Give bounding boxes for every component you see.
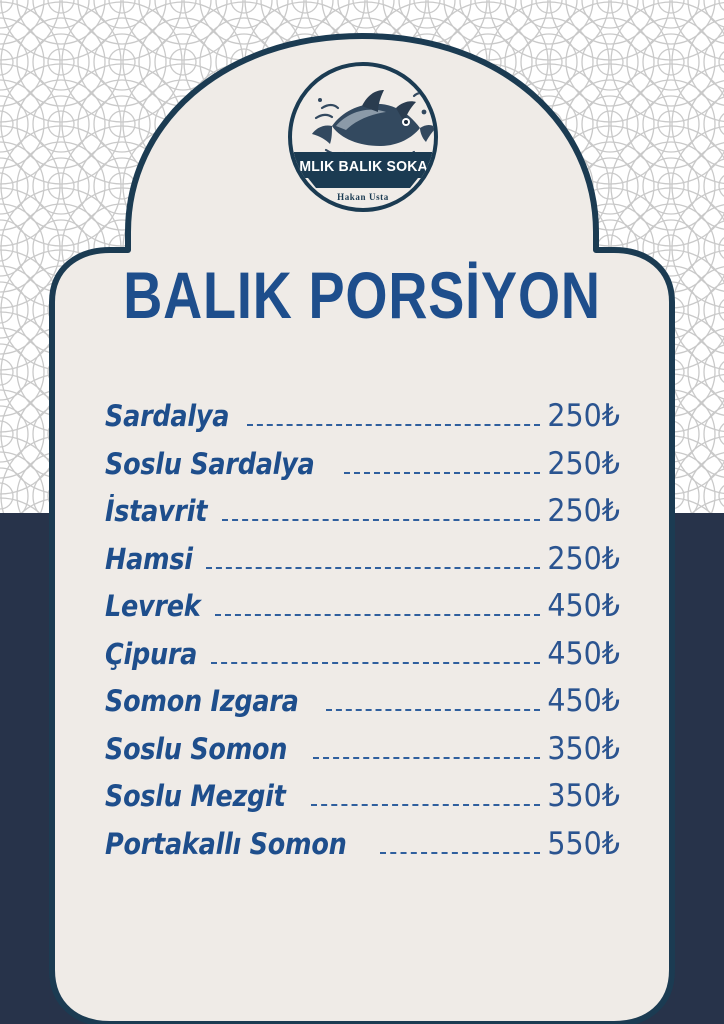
menu-item-name: Hamsi: [105, 542, 193, 576]
leader-dots: [326, 709, 540, 711]
leader-dots: [247, 424, 540, 426]
menu-item-row: Somon Izgara450₺: [105, 683, 620, 731]
leader-dots: [344, 472, 540, 474]
menu-item-row: Soslu Sardalya250₺: [105, 446, 620, 494]
menu-item-row: Sardalya250₺: [105, 398, 620, 446]
fish-icon: [312, 90, 434, 162]
page-title: BALIK PORSİYON: [65, 262, 659, 328]
menu-item-name: Çipura: [105, 637, 197, 671]
menu-item-price: 250₺: [547, 493, 620, 529]
brand-logo: ÇAMLIK BALIK SOKAĞI Hakan Usta: [288, 62, 438, 212]
leader-dots: [222, 519, 540, 521]
menu-list: Sardalya250₺Soslu Sardalya250₺İstavrit25…: [105, 398, 620, 873]
menu-item-name: Soslu Sardalya: [105, 447, 314, 481]
leader-dots: [313, 757, 540, 759]
menu-item-row: Hamsi250₺: [105, 541, 620, 589]
menu-item-name: Portakallı Somon: [105, 827, 347, 861]
logo-graphic: ÇAMLIK BALIK SOKAĞI Hakan Usta: [292, 66, 434, 208]
leader-dots: [380, 852, 540, 854]
menu-item-price: 450₺: [547, 588, 620, 624]
menu-item-price: 250₺: [547, 541, 620, 577]
logo-brand-text: ÇAMLIK BALIK SOKAĞI: [292, 157, 434, 175]
menu-item-row: Levrek450₺: [105, 588, 620, 636]
menu-item-row: İstavrit250₺: [105, 493, 620, 541]
menu-item-price: 450₺: [547, 636, 620, 672]
menu-item-price: 350₺: [547, 731, 620, 767]
menu-item-name: Soslu Somon: [105, 732, 287, 766]
menu-item-price: 550₺: [547, 826, 620, 862]
menu-item-name: Sardalya: [105, 399, 229, 433]
menu-item-price: 450₺: [547, 683, 620, 719]
menu-item-price: 350₺: [547, 778, 620, 814]
leader-dots: [311, 804, 540, 806]
menu-item-row: Soslu Mezgit350₺: [105, 778, 620, 826]
menu-item-row: Portakallı Somon550₺: [105, 826, 620, 874]
menu-item-row: Soslu Somon350₺: [105, 731, 620, 779]
menu-item-price: 250₺: [547, 398, 620, 434]
menu-item-name: Soslu Mezgit: [105, 779, 286, 813]
menu-item-name: Somon Izgara: [105, 684, 299, 718]
leader-dots: [206, 567, 540, 569]
logo-tagline-text: Hakan Usta: [337, 192, 389, 202]
menu-item-row: Çipura450₺: [105, 636, 620, 684]
leader-dots: [211, 662, 540, 664]
menu-item-name: İstavrit: [105, 494, 207, 528]
menu-item-name: Levrek: [105, 589, 200, 623]
menu-item-price: 250₺: [547, 446, 620, 482]
leader-dots: [215, 614, 541, 616]
